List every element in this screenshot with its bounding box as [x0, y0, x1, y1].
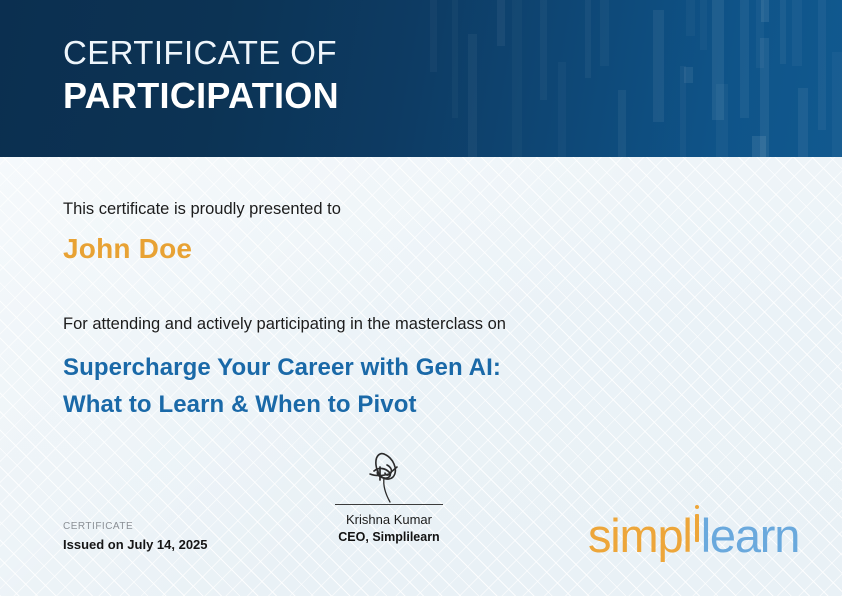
- simplilearn-logo: simpl learn: [588, 500, 799, 552]
- header-bar: [700, 0, 707, 50]
- header-bar: [468, 34, 477, 157]
- header-bar: [497, 0, 505, 46]
- header-bar: [600, 0, 609, 66]
- header-bar: [430, 0, 437, 72]
- signer-role: CEO, Simplilearn: [335, 529, 443, 546]
- header-bar: [752, 136, 766, 157]
- certificate-caption: CERTIFICATE: [63, 520, 208, 534]
- attending-label: For attending and actively participating…: [63, 315, 506, 334]
- logo-text-learn: learn: [701, 510, 800, 562]
- header-bar: [452, 0, 458, 118]
- header-bar: [792, 0, 802, 66]
- header-bar: [761, 0, 769, 22]
- header-bar: [585, 0, 591, 78]
- certificate-header: CERTIFICATE OF PARTICIPATION: [0, 0, 842, 157]
- header-bar: [558, 62, 566, 157]
- header-bar: [680, 66, 686, 157]
- header-bar: [618, 90, 626, 157]
- certificate-header-text: CERTIFICATE OF PARTICIPATION: [63, 33, 339, 118]
- course-title-line-1: Supercharge Your Career with Gen AI:: [63, 349, 501, 386]
- signature-block: Krishna Kumar CEO, Simplilearn: [335, 447, 443, 546]
- header-bar: [684, 67, 693, 83]
- header-bar: [686, 0, 695, 36]
- header-bar: [740, 0, 749, 118]
- certificate-body: This certificate is proudly presented to…: [0, 157, 842, 596]
- header-bar: [818, 0, 826, 130]
- course-title-line-2: What to Learn & When to Pivot: [63, 386, 501, 423]
- header-bar: [756, 0, 764, 68]
- signature-line: [335, 504, 443, 505]
- presented-to-label: This certificate is proudly presented to: [63, 200, 341, 219]
- signature-icon: [335, 447, 443, 504]
- logo-text-simpl: simpl: [588, 510, 692, 562]
- recipient-name: John Doe: [63, 233, 192, 265]
- header-bar: [712, 0, 724, 120]
- header-bar: [832, 52, 842, 157]
- header-bar: [760, 38, 769, 157]
- header-bar: [512, 0, 522, 157]
- header-bar: [798, 88, 808, 157]
- logo-i-divider-icon: [692, 500, 701, 552]
- certificate-issued-date: Issued on July 14, 2025: [63, 536, 208, 554]
- course-title: Supercharge Your Career with Gen AI: Wha…: [63, 349, 501, 423]
- certificate-of-participation: CERTIFICATE OF PARTICIPATION This certif…: [0, 0, 842, 596]
- certificate-issue-block: CERTIFICATE Issued on July 14, 2025: [63, 520, 208, 554]
- header-bar: [540, 0, 547, 100]
- certificate-title-line-2: PARTICIPATION: [63, 73, 339, 118]
- signer-name: Krishna Kumar: [335, 511, 443, 529]
- certificate-title-line-1: CERTIFICATE OF: [63, 33, 339, 73]
- header-bar: [653, 10, 664, 122]
- header-bar: [716, 84, 728, 157]
- header-bar: [780, 0, 786, 64]
